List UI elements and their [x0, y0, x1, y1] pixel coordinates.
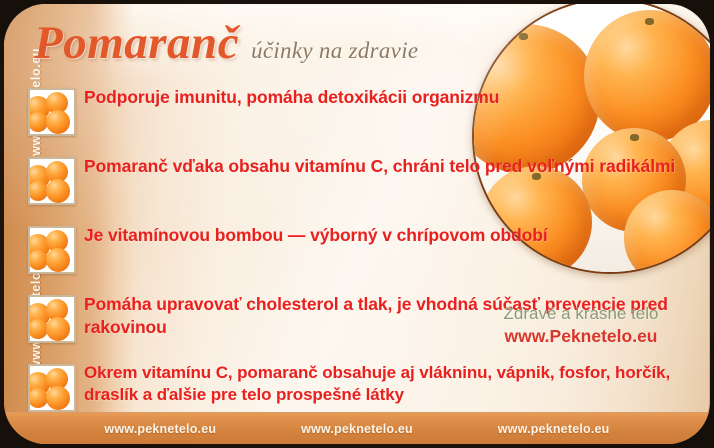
brand-website[interactable]: www.Peknetelo.eu	[456, 326, 706, 347]
page-title: Pomaranč účinky na zdravie	[34, 20, 418, 67]
footer-website-3[interactable]: www.peknetelo.eu	[498, 422, 610, 436]
oranges-thumbnail-icon	[28, 88, 76, 136]
poster-card: www.peknetelo.eu www.peknetelo.eu Pomara…	[4, 4, 710, 444]
oranges-thumbnail-icon	[28, 226, 76, 274]
benefit-text: Podporuje imunitu, pomáha detoxikácii or…	[84, 86, 698, 109]
footer-website-2[interactable]: www.peknetelo.eu	[301, 422, 413, 436]
title-main: Pomaranč	[34, 20, 239, 67]
brand-tagline: Zdravé a krásne telo	[456, 304, 706, 324]
footer-bar: www.peknetelo.eu www.peknetelo.eu www.pe…	[4, 412, 710, 444]
infographic-poster: www.peknetelo.eu www.peknetelo.eu Pomara…	[0, 0, 714, 448]
footer-website-1[interactable]: www.peknetelo.eu	[104, 422, 216, 436]
benefit-text: Je vitamínovou bombou — výborný v chrípo…	[84, 224, 698, 247]
benefit-text: Okrem vitamínu C, pomaranč obsahuje aj v…	[84, 362, 698, 406]
benefit-text: Pomaranč vďaka obsahu vitamínu C, chráni…	[84, 155, 698, 178]
oranges-thumbnail-icon	[28, 157, 76, 205]
list-item: Pomaranč vďaka obsahu vitamínu C, chráni…	[28, 155, 698, 217]
list-item: Je vitamínovou bombou — výborný v chrípo…	[28, 224, 698, 286]
oranges-thumbnail-icon	[28, 364, 76, 412]
title-subtitle: účinky na zdravie	[251, 38, 418, 64]
oranges-thumbnail-icon	[28, 295, 76, 343]
list-item: Podporuje imunitu, pomáha detoxikácii or…	[28, 86, 698, 148]
benefits-list: Podporuje imunitu, pomáha detoxikácii or…	[28, 86, 698, 431]
brand-block: Zdravé a krásne telo www.Peknetelo.eu	[456, 304, 706, 347]
